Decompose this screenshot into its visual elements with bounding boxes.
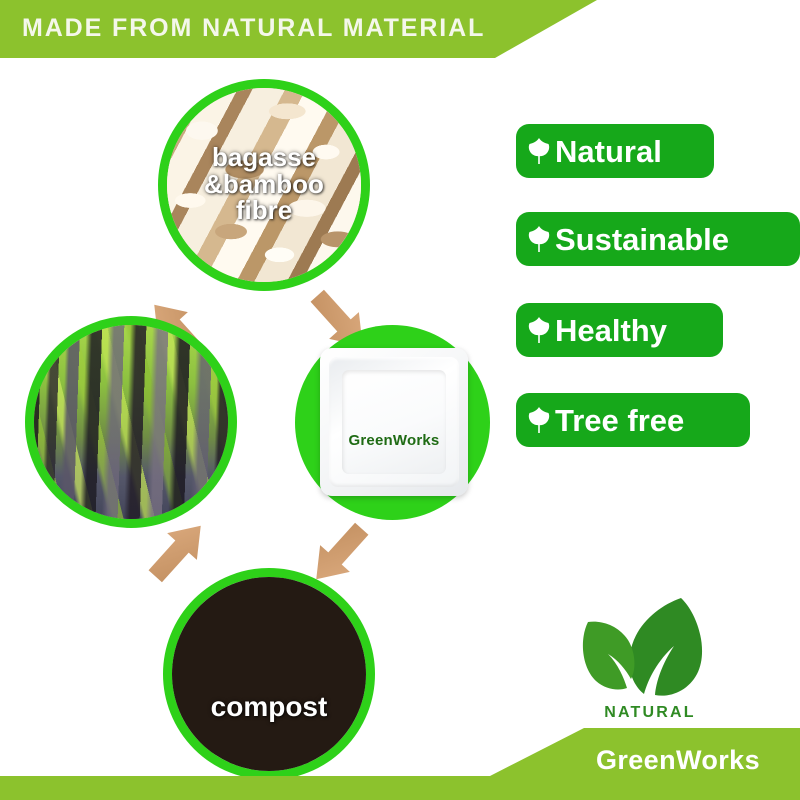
badge-sustainable[interactable]: Sustainable xyxy=(516,212,800,266)
badge-tree-free-label: Tree free xyxy=(555,405,684,436)
cycle-node-sugarcane[interactable] xyxy=(25,316,237,528)
leaf-icon xyxy=(526,405,552,435)
plate-inner-well xyxy=(342,370,446,474)
page-title: MADE FROM NATURAL MATERIAL xyxy=(22,14,485,43)
badge-natural-label: Natural xyxy=(555,136,662,167)
two-leaves-icon xyxy=(566,596,734,708)
badge-natural[interactable]: Natural xyxy=(516,124,714,178)
bagasse-photo xyxy=(167,88,361,282)
footer-brand-label: GreenWorks xyxy=(596,745,760,776)
poster-canvas: MADE FROM NATURAL MATERIAL bagass xyxy=(0,0,800,800)
badge-healthy-label: Healthy xyxy=(555,315,667,346)
badge-tree-free[interactable]: Tree free xyxy=(516,393,750,447)
brand-logo: NATURAL xyxy=(566,596,734,724)
badge-healthy[interactable]: Healthy xyxy=(516,303,723,357)
leaf-icon xyxy=(526,224,552,254)
badge-sustainable-label: Sustainable xyxy=(555,224,729,255)
sugarcane-photo xyxy=(34,325,228,519)
cycle-node-bagasse[interactable]: bagasse &bamboo fibre xyxy=(158,79,370,291)
plate-brand-label: GreenWorks xyxy=(320,432,468,449)
leaf-icon xyxy=(526,315,552,345)
leaf-icon xyxy=(526,136,552,166)
product-plate[interactable]: GreenWorks xyxy=(320,348,468,496)
